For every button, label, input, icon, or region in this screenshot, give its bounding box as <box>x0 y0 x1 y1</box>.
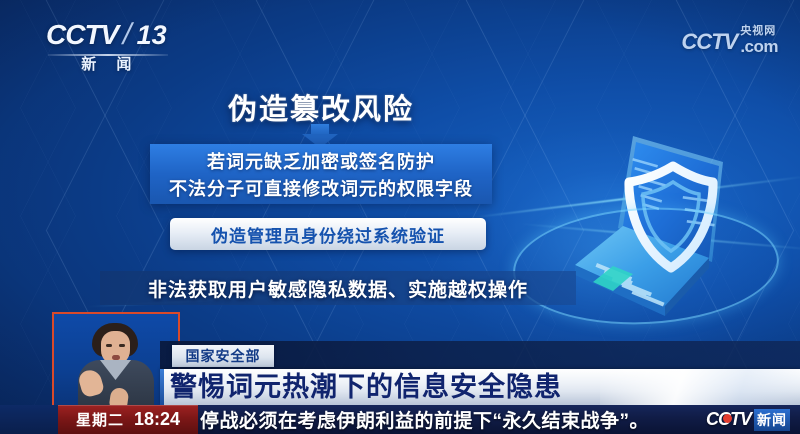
cctv13-logo-row: CCTV / 13 <box>46 18 167 52</box>
lower-third-kicker: 国家安全部 <box>172 345 274 367</box>
ticker-logo-dot-icon <box>723 414 732 423</box>
interpreter-eye-right <box>119 344 125 347</box>
ticker-cctv-news-logo: CCTV 新闻 <box>662 405 800 434</box>
cctv-com-logo: CCTV 央视网 .com <box>681 26 778 55</box>
cctv13-slash-icon: / <box>120 18 136 52</box>
risk-box-3-line1: 非法获取用户敏感隐私数据、实施越权操作 <box>148 275 528 302</box>
cctv13-logo: CCTV / 13 新 闻 <box>46 18 167 74</box>
news-ticker-bar: 星期二 18:24 停战必须在考虑伊朗利益的前提下“永久结束战争”。 CCTV … <box>0 405 800 434</box>
lower-third-headline-bar: 警惕词元热潮下的信息安全隐患 <box>160 369 800 405</box>
risk-box-1-line2: 不法分子可直接修改词元的权限字段 <box>169 175 473 201</box>
cctv-com-domain: .com <box>740 38 778 55</box>
ticker-cctv-wordmark: CCTV <box>706 409 751 430</box>
cctv13-wordmark: CCTV <box>46 19 118 51</box>
lower-third-accent <box>160 369 164 405</box>
ticker-news-label: 新闻 <box>754 409 790 431</box>
cctv-com-chinese-label: 央视网 <box>740 26 776 37</box>
cctv-com-wordmark: CCTV <box>681 29 737 55</box>
lower-third-headline: 警惕词元热潮下的信息安全隐患 <box>170 370 562 404</box>
cctv13-underline <box>48 54 168 56</box>
cctv-com-right: 央视网 .com <box>740 26 778 55</box>
cctv13-subtitle: 新 闻 <box>46 53 167 74</box>
cctv13-channel-number: 13 <box>137 20 167 51</box>
risk-box-3: 非法获取用户敏感隐私数据、实施越权操作 <box>100 271 576 305</box>
broadcast-screen: CCTV / 13 新 闻 CCTV 央视网 .com 伪造篡改风险 若词元缺乏… <box>0 0 800 434</box>
risk-box-2: 伪造管理员身份绕过系统验证 <box>170 218 486 250</box>
graphic-title: 伪造篡改风险 <box>228 86 414 128</box>
ticker-headline-text: 停战必须在考虑伊朗利益的前提下“永久结束战争”。 <box>198 406 662 433</box>
ticker-left-spacer <box>0 405 58 434</box>
clock-time: 18:24 <box>134 409 180 430</box>
risk-box-1: 若词元缺乏加密或签名防护 不法分子可直接修改词元的权限字段 <box>150 144 492 204</box>
interpreter-eye-left <box>106 344 112 347</box>
risk-box-1-line1: 若词元缺乏加密或签名防护 <box>207 148 435 174</box>
clock-weekday: 星期二 <box>76 409 124 430</box>
risk-box-2-line1: 伪造管理员身份绕过系统验证 <box>211 222 445 247</box>
clock-block: 星期二 18:24 <box>58 405 198 434</box>
